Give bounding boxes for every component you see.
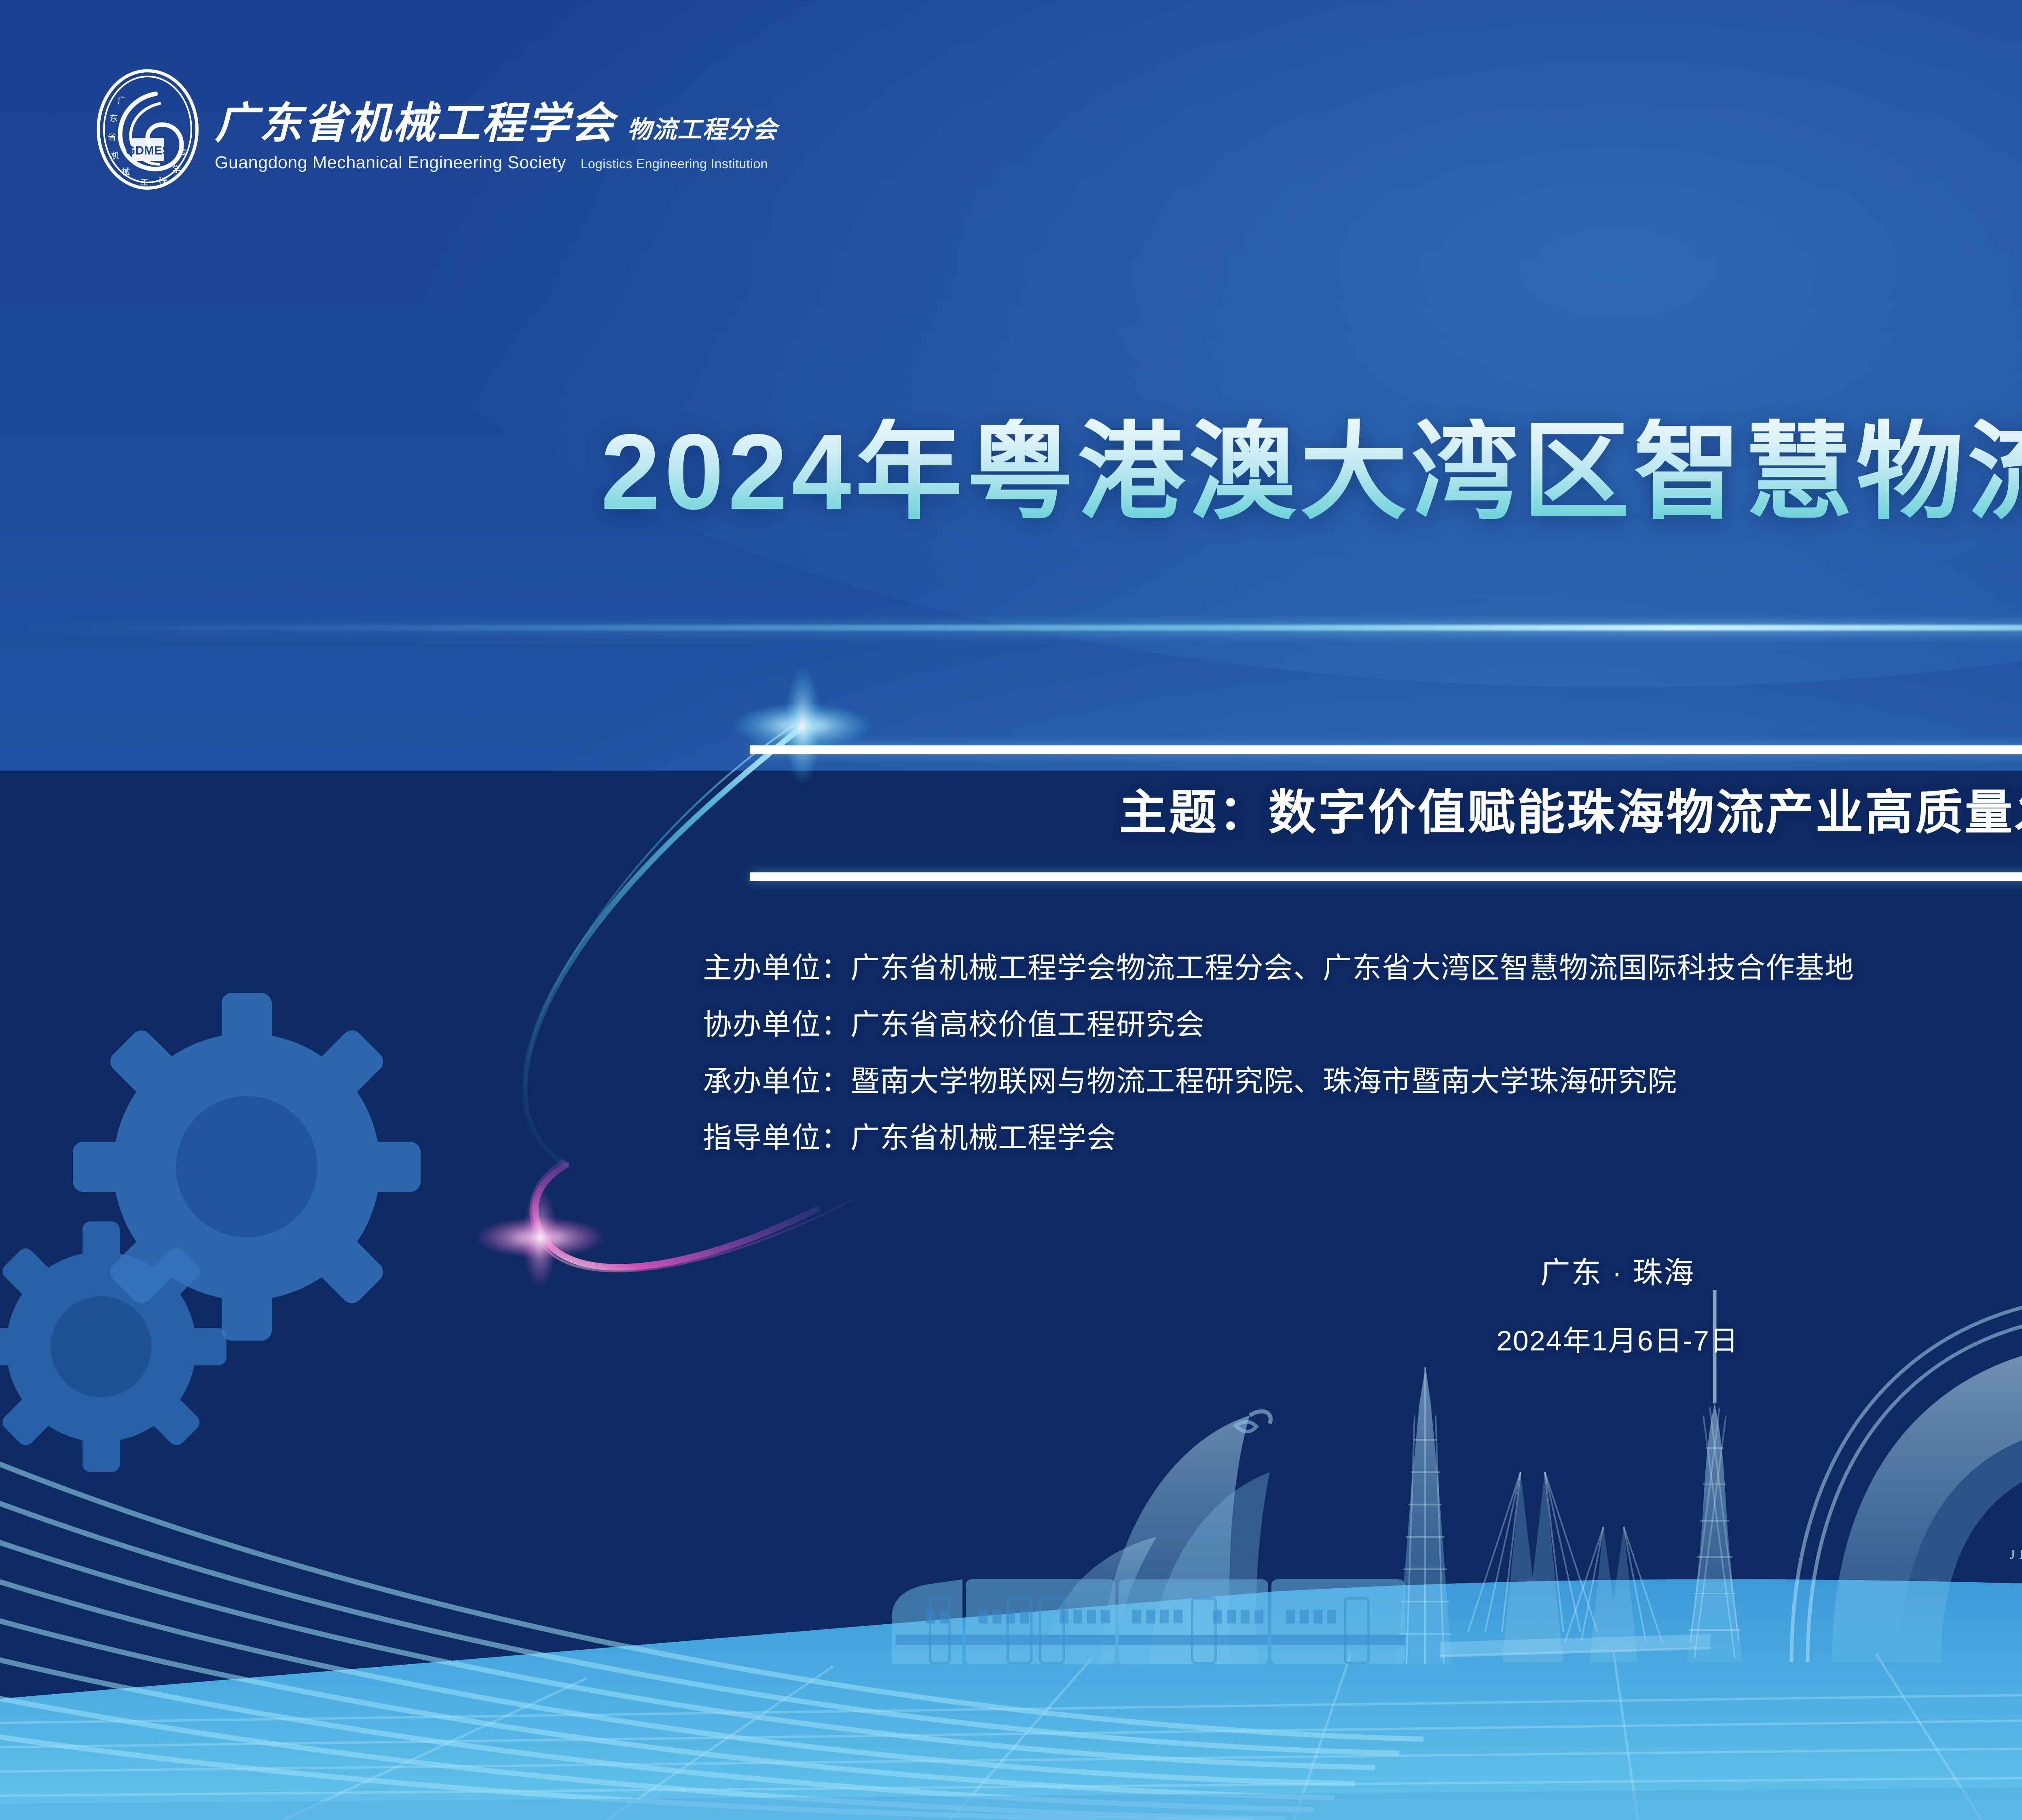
arch-wordmark-cn: 暨南大学 (1923, 1493, 2022, 1543)
gmes-seal-icon: GDMES 广 东 省 机 械 工 程 学 会 (95, 69, 200, 192)
svg-text:械: 械 (122, 167, 130, 177)
poster-header: GDMES 广 东 省 机 械 工 程 学 会 (0, 0, 2022, 259)
gmes-nametext: 广东省机械工程学会 物流工程分会 Guangdong Mechanical En… (215, 88, 778, 173)
gear-left-group (0, 993, 421, 1472)
svg-text:会: 会 (178, 147, 187, 157)
gmes-seal-abbr: GDMES (126, 144, 170, 157)
ground-plane (0, 1448, 2022, 1820)
arch-wordmark-en: JINAN UNIVERSITY (1923, 1547, 2022, 1562)
train-stripe (896, 1635, 1405, 1645)
bottom-glow (81, 1213, 2022, 1820)
ground-arcs (0, 1448, 1423, 1820)
organizer-coorganizer: 协办单位：广东省高校价值工程研究会 (703, 1010, 1854, 1039)
organizers-list: 主办单位：广东省机械工程学会物流工程分会、广东省大湾区智慧物流国际科技合作基地 … (703, 954, 1854, 1153)
train (892, 1579, 1405, 1664)
theme-text: 主题：数字价值赋能珠海物流产业高质量发展 (750, 754, 2022, 872)
svg-text:学: 学 (173, 165, 181, 174)
gmes-society-en: Guangdong Mechanical Engineering Society (215, 153, 566, 173)
gmes-logo-lockup: GDMES 广 东 省 机 械 工 程 学 会 (95, 69, 778, 192)
gmes-society-cn: 广东省机械工程学会 (215, 88, 615, 150)
svg-text:机: 机 (111, 151, 120, 161)
theme-rule-top (750, 745, 2022, 754)
background-decoration (0, 0, 2022, 1820)
cable-stayed-bridge (1440, 1472, 1711, 1662)
page-title: 2024年粤港澳大湾区智慧物流学术研讨会 (0, 419, 2022, 526)
opera-house (1039, 1412, 1271, 1664)
venue-text: 广东 · 珠海 (0, 1258, 2022, 1288)
organizer-advisor: 指导单位：广东省机械工程学会 (703, 1124, 1854, 1153)
train-doors (930, 1598, 1368, 1663)
svg-text:工: 工 (140, 178, 149, 187)
light-streaks (477, 1052, 2022, 1820)
svg-text:省: 省 (108, 132, 116, 142)
theme-rule-bottom (750, 872, 2022, 881)
date-text: 2024年1月6日-7日 (0, 1327, 2022, 1355)
bridge-cables (1468, 1472, 1662, 1642)
svg-text:广: 广 (118, 96, 126, 106)
organizer-host: 主办单位：广东省机械工程学会物流工程分会、广东省大湾区智慧物流国际科技合作基地 (703, 954, 1854, 983)
conference-poster: GDMES 广 东 省 机 械 工 程 学 会 (0, 0, 2022, 1820)
theme-banner: 主题：数字价值赋能珠海物流产业高质量发展 (750, 745, 2022, 881)
train-windows (926, 1610, 1336, 1623)
tall-tower (1397, 1367, 1452, 1664)
gmes-branch-en: Logistics Engineering Institution (581, 157, 768, 171)
organizer-undertaker: 承办单位：暨南大学物联网与物流工程研究院、珠海市暨南大学珠海研究院 (703, 1067, 1854, 1096)
ground-grid (0, 1652, 2022, 1820)
svg-text:东: 东 (110, 114, 118, 123)
horizontal-beam (0, 625, 2022, 631)
arch-wordmark: 暨南大学 JINAN UNIVERSITY (1923, 1496, 2022, 1562)
svg-text:程: 程 (159, 176, 167, 186)
gmes-branch-cn: 物流工程分会 (627, 110, 778, 145)
